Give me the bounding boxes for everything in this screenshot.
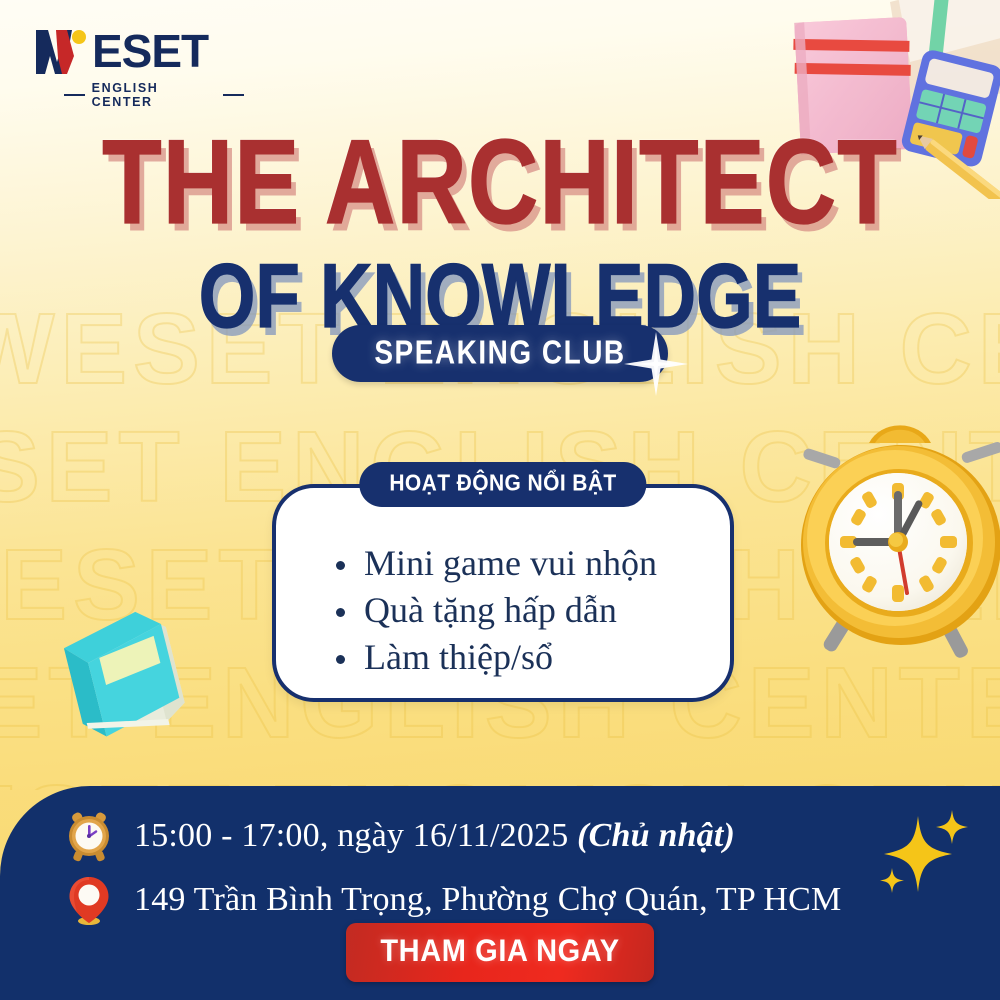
- logo-tagline: ENGLISH CENTER: [64, 81, 244, 109]
- speaking-club-pill-wrap: SPEAKING CLUB: [0, 325, 1000, 382]
- speaking-club-label: SPEAKING CLUB: [374, 334, 625, 372]
- speaking-club-pill: SPEAKING CLUB: [332, 325, 667, 382]
- event-day-value: (Chủ nhật): [577, 817, 735, 854]
- logo-tagline-text: ENGLISH CENTER: [92, 81, 217, 109]
- event-location-row: 149 Trần Bình Trọng, Phường Chợ Quán, TP…: [66, 874, 1000, 926]
- event-time-row: 15:00 - 17:00, ngày 16/11/2025 (Chủ nhật…: [66, 786, 1000, 862]
- activities-card: HOẠT ĐỘNG NỔI BẬT Mini game vui nhộn Quà…: [272, 484, 734, 702]
- activities-badge: HOẠT ĐỘNG NỔI BẬT: [359, 462, 646, 507]
- sparkles-icon: [876, 806, 972, 902]
- event-time-text: 15:00 - 17:00, ngày 16/11/2025 (Chủ nhật…: [134, 817, 735, 855]
- alarm-clock-illustration: [795, 395, 1000, 685]
- brand-logo: ESET ENGLISH CENTER: [34, 28, 244, 109]
- logo-dash-right: [223, 94, 244, 96]
- event-location-text: 149 Trần Bình Trọng, Phường Chợ Quán, TP…: [134, 881, 841, 919]
- book-illustration: [46, 604, 206, 744]
- poster-canvas: WESET ENGLISH CENTER WESET ENGLISH CENTE…: [0, 0, 1000, 1000]
- event-details-bar: 15:00 - 17:00, ngày 16/11/2025 (Chủ nhật…: [0, 786, 1000, 1000]
- cta-wrap: THAM GIA NGAY: [0, 923, 1000, 982]
- logo-w-icon: [34, 28, 92, 74]
- list-item: Quà tặng hấp dẫn: [334, 587, 730, 634]
- list-item: Mini game vui nhộn: [334, 540, 730, 587]
- event-time-value: 15:00 - 17:00, ngày 16/11/2025: [134, 817, 577, 854]
- join-now-label: THAM GIA NGAY: [380, 933, 619, 969]
- logo-dash-left: [64, 94, 85, 96]
- logo-wordmark: ESET: [34, 28, 244, 74]
- alarm-clock-icon: [66, 810, 112, 862]
- activities-list: Mini game vui nhộn Quà tặng hấp dẫn Làm …: [334, 540, 730, 680]
- logo-text: ESET: [92, 28, 208, 74]
- poster-headline: THE ARCHITECT OF KNOWLEDGE: [0, 128, 1000, 319]
- join-now-button[interactable]: THAM GIA NGAY: [346, 923, 653, 982]
- list-item: Làm thiệp/sổ: [334, 634, 730, 681]
- headline-line-1: THE ARCHITECT: [0, 128, 1000, 238]
- map-pin-icon: [66, 874, 112, 926]
- star-flare-icon: [618, 326, 694, 402]
- activities-badge-label: HOẠT ĐỘNG NỔI BẬT: [389, 471, 616, 498]
